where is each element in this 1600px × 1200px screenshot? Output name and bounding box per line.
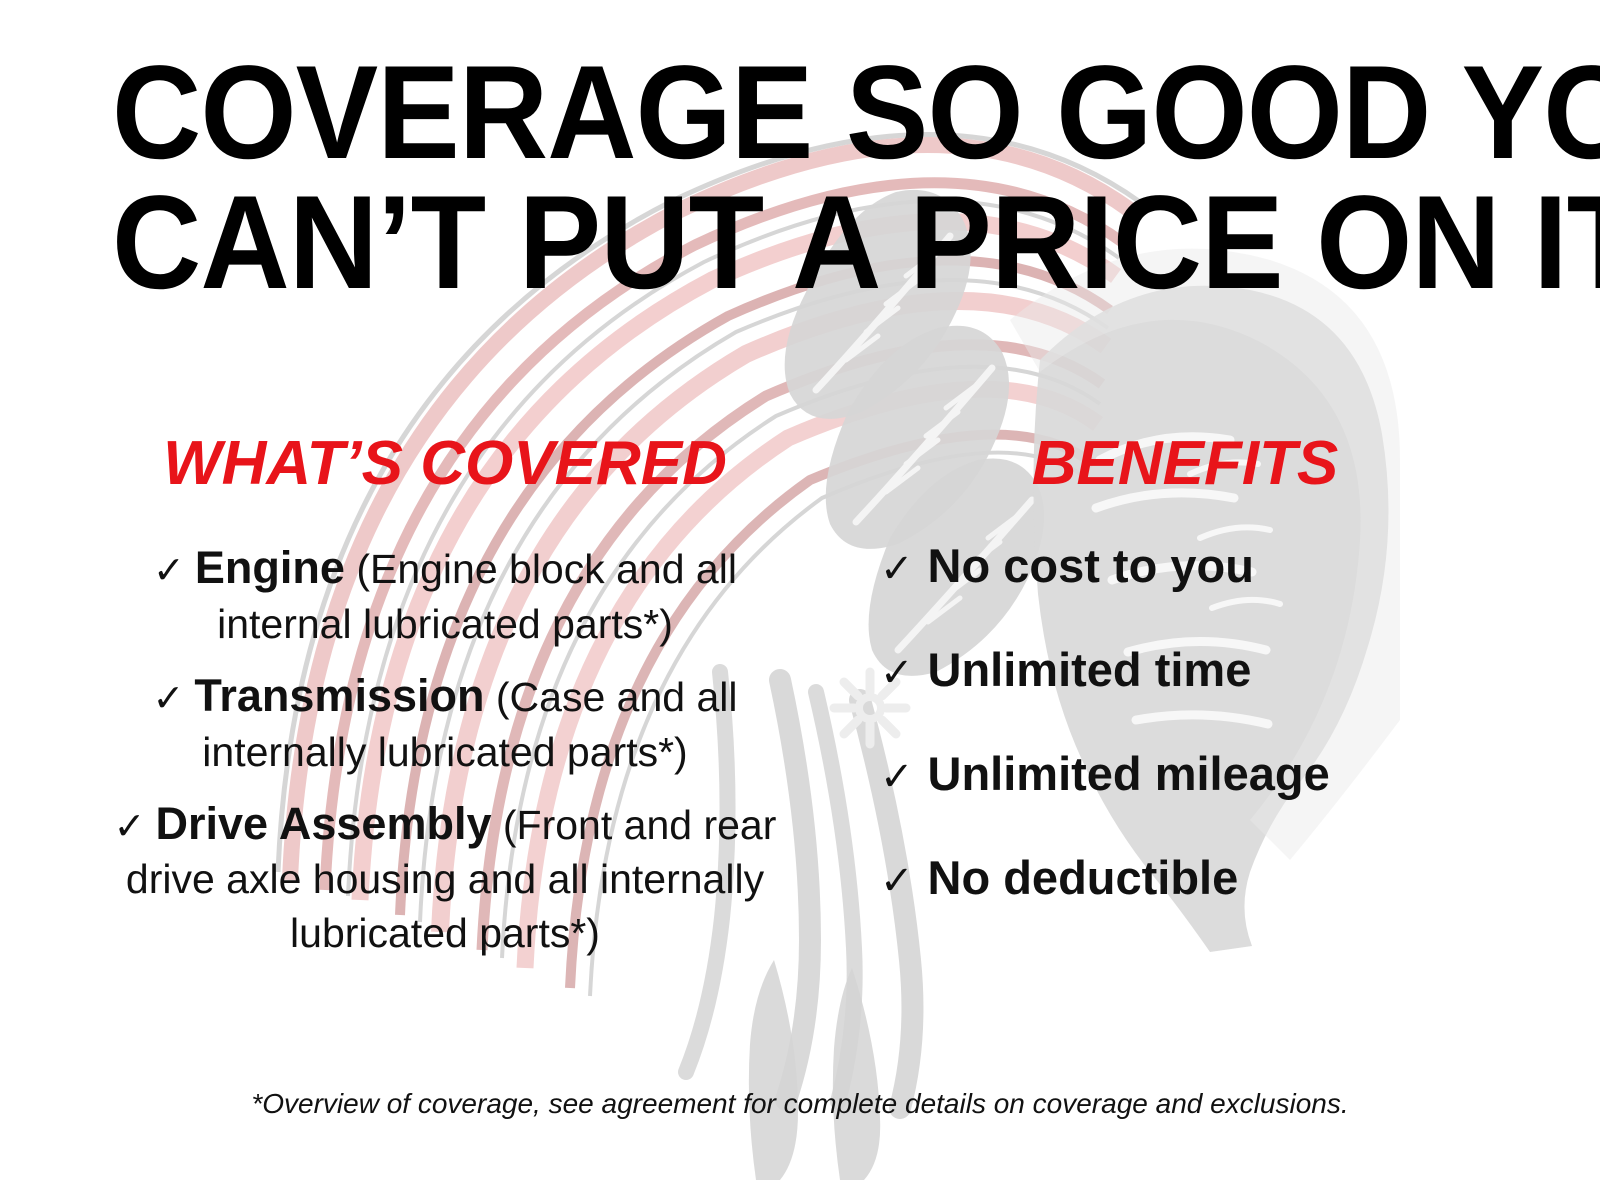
whats-covered-section: WHAT’S COVERED ✓Engine (Engine block and… <box>95 432 795 976</box>
check-icon: ✓ <box>153 678 185 720</box>
list-item: ✓Unlimited time <box>880 643 1530 697</box>
footnote-disclaimer: *Overview of coverage, see agreement for… <box>0 1088 1600 1120</box>
check-icon: ✓ <box>880 651 914 695</box>
list-item: ✓Unlimited mileage <box>880 747 1530 801</box>
list-item: ✓Engine (Engine block and all internal l… <box>95 539 795 651</box>
headline-line-2: CAN’T PUT A PRICE ON IT. <box>112 178 1414 308</box>
headline-line-1: COVERAGE SO GOOD YOU <box>112 48 1414 178</box>
benefit-label: Unlimited mileage <box>928 747 1330 800</box>
benefits-list: ✓No cost to you ✓Unlimited time ✓Unlimit… <box>880 539 1530 905</box>
check-icon: ✓ <box>153 550 185 592</box>
list-item: ✓No deductible <box>880 851 1530 905</box>
covered-list: ✓Engine (Engine block and all internal l… <box>95 539 795 960</box>
covered-item-title: Drive Assembly <box>155 798 491 849</box>
list-item: ✓Drive Assembly (Front and rear drive ax… <box>95 795 795 960</box>
page-title: COVERAGE SO GOOD YOU CAN’T PUT A PRICE O… <box>112 48 1414 309</box>
list-item: ✓No cost to you <box>880 539 1530 593</box>
benefits-section: BENEFITS ✓No cost to you ✓Unlimited time… <box>880 432 1530 955</box>
covered-item-title: Transmission <box>194 670 484 721</box>
poster-canvas: COVERAGE SO GOOD YOU CAN’T PUT A PRICE O… <box>0 0 1600 1200</box>
check-icon: ✓ <box>880 859 914 903</box>
check-icon: ✓ <box>880 547 914 591</box>
check-icon: ✓ <box>880 755 914 799</box>
benefit-label: Unlimited time <box>928 643 1252 696</box>
covered-item-title: Engine <box>195 542 345 593</box>
benefit-label: No cost to you <box>928 539 1254 592</box>
whats-covered-heading: WHAT’S COVERED <box>95 432 795 495</box>
benefits-heading: BENEFITS <box>880 432 1530 495</box>
list-item: ✓Transmission (Case and all internally l… <box>95 667 795 779</box>
benefit-label: No deductible <box>928 851 1239 904</box>
check-icon: ✓ <box>114 806 146 848</box>
